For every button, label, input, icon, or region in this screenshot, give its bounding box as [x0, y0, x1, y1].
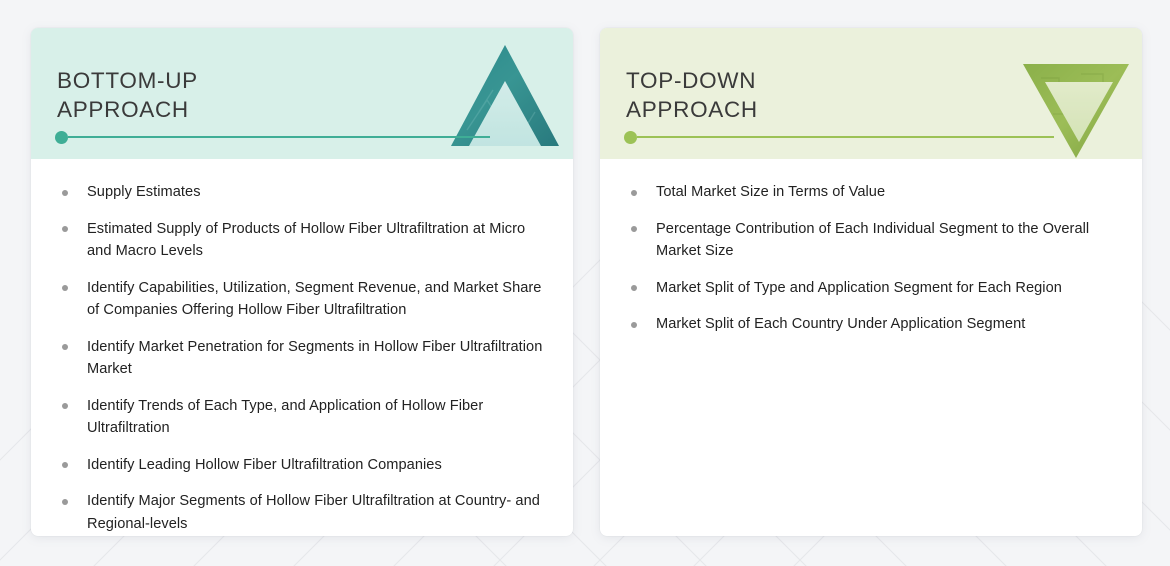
list-item: Market Split of Type and Application Seg…: [620, 277, 1122, 300]
panel-header-bottom-up: BOTTOM-UP APPROACH: [31, 28, 573, 159]
panel-title-bottom-up: BOTTOM-UP APPROACH: [57, 66, 198, 124]
accent-line: [68, 136, 490, 138]
accent-dot-icon: [624, 131, 637, 144]
panel-bottom-up: BOTTOM-UP APPROACH Supply Estimates Esti…: [31, 28, 573, 536]
list-item: Market Split of Each Country Under Appli…: [620, 313, 1122, 336]
list-item: Identify Market Penetration for Segments…: [51, 336, 553, 381]
panel-top-down: TOP-DOWN APPROACH Total Market Size in T…: [600, 28, 1142, 536]
bullet-list-top-down: Total Market Size in Terms of Value Perc…: [620, 181, 1122, 336]
accent-dot-icon: [55, 131, 68, 144]
list-item: Identify Leading Hollow Fiber Ultrafiltr…: [51, 454, 553, 477]
panel-body-top-down: Total Market Size in Terms of Value Perc…: [600, 159, 1142, 536]
accent-rule-bottom-up: [55, 130, 490, 144]
approach-comparison-board: BOTTOM-UP APPROACH Supply Estimates Esti…: [0, 0, 1170, 566]
accent-line: [637, 136, 1054, 138]
list-item: Identify Major Segments of Hollow Fiber …: [51, 490, 553, 535]
bullet-list-bottom-up: Supply Estimates Estimated Supply of Pro…: [51, 181, 553, 535]
list-item: Supply Estimates: [51, 181, 553, 204]
accent-rule-top-down: [624, 130, 1054, 144]
panel-title-top-down: TOP-DOWN APPROACH: [626, 66, 758, 124]
panel-body-bottom-up: Supply Estimates Estimated Supply of Pro…: [31, 159, 573, 536]
panel-header-top-down: TOP-DOWN APPROACH: [600, 28, 1142, 159]
list-item: Identify Capabilities, Utilization, Segm…: [51, 277, 553, 322]
list-item: Percentage Contribution of Each Individu…: [620, 218, 1122, 263]
list-item: Total Market Size in Terms of Value: [620, 181, 1122, 204]
list-item: Estimated Supply of Products of Hollow F…: [51, 218, 553, 263]
list-item: Identify Trends of Each Type, and Applic…: [51, 395, 553, 440]
